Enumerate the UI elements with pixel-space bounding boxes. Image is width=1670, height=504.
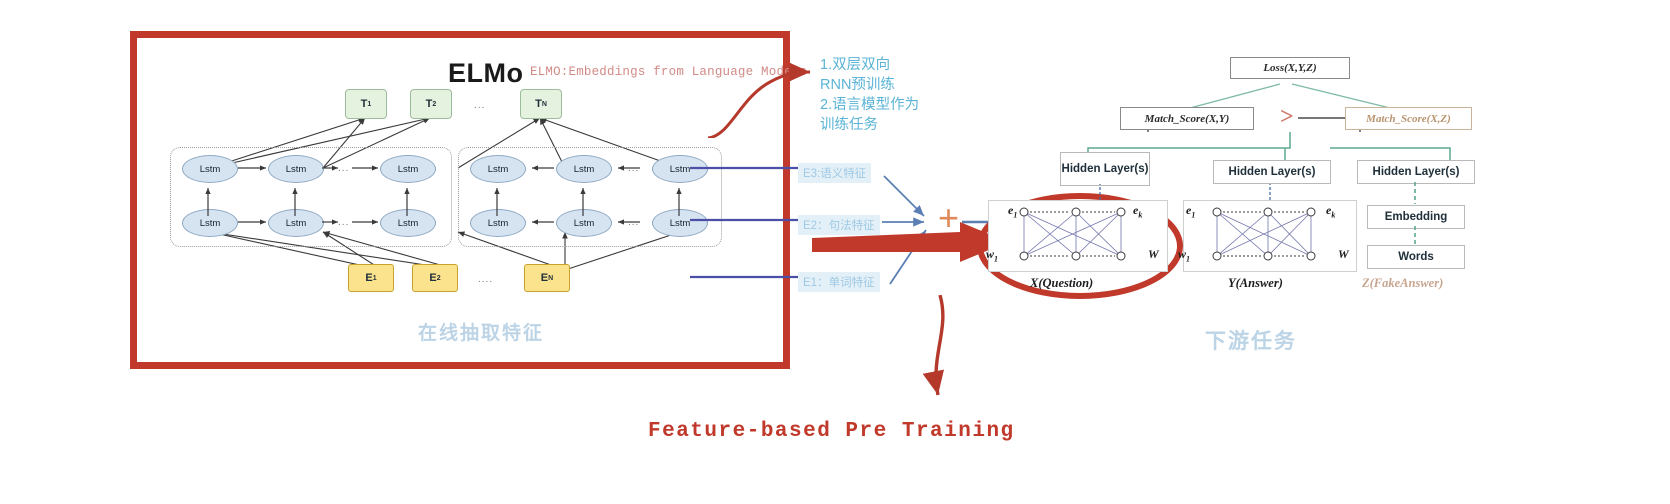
lstm-ellipsis: ...: [338, 217, 349, 228]
e2-sub: 2: [437, 275, 441, 282]
loss-label: Loss(X,Y,Z): [1263, 62, 1316, 74]
x-e1-sub: 1: [1013, 210, 1017, 219]
tn-sub: N: [542, 101, 547, 108]
network-label-x: X(Question): [1030, 276, 1093, 291]
y-ek-sub: k: [1331, 210, 1335, 219]
x-node-w-label: W: [1148, 247, 1159, 262]
network-label-y: Y(Answer): [1228, 276, 1283, 291]
feature-label-e3: E3:语义特征: [798, 163, 871, 183]
annotation-line-4: 训练任务: [820, 115, 930, 135]
e1-sub: 1: [373, 275, 377, 282]
comparator-symbol: >: [1280, 104, 1294, 131]
t-ellipsis: ...: [474, 100, 485, 111]
lstm-ellipsis: ...: [628, 217, 639, 228]
y-e1-sub: 1: [1191, 210, 1195, 219]
y-w1-base: w: [1178, 247, 1186, 261]
annotation-line-3: 2.语言模型作为: [820, 95, 930, 115]
tn-label: T: [535, 98, 542, 110]
x-node-e1-label: e1: [1008, 203, 1017, 219]
lstm-cell: Lstm: [182, 155, 238, 183]
loss-box: Loss(X,Y,Z): [1230, 57, 1350, 79]
embedding-box-e1: E1: [348, 264, 394, 292]
output-box-tn: TN: [520, 89, 562, 119]
red-curve-arrow-bottom: [900, 295, 970, 420]
x-w1-base: w: [986, 247, 994, 261]
x-node-ek-label: ek: [1133, 203, 1142, 219]
match-score-xz-label: Match_Score(X,Z): [1366, 113, 1451, 125]
t1-label: T: [361, 98, 368, 110]
lstm-cell: Lstm: [182, 209, 238, 237]
hidden-layers-box-y: Hidden Layer(s): [1213, 160, 1331, 184]
embedding-box-e2: E2: [412, 264, 458, 292]
lstm-ellipsis: ...: [338, 163, 349, 174]
t1-sub: 1: [367, 101, 371, 108]
hidden-layers-label-z: Hidden Layer(s): [1373, 166, 1460, 179]
x-ek-sub: k: [1138, 210, 1142, 219]
lstm-cell: Lstm: [556, 209, 612, 237]
y-node-w-label: W: [1338, 247, 1349, 262]
hidden-layers-label-x: Hidden Layer(s): [1062, 163, 1149, 176]
en-label: E: [541, 272, 548, 284]
words-label: Words: [1398, 251, 1434, 264]
online-extract-caption: 在线抽取特征: [418, 318, 544, 345]
lstm-cell: Lstm: [556, 155, 612, 183]
output-box-t1: T1: [345, 89, 387, 119]
feature-label-e2: E2：句法特征: [798, 215, 880, 235]
embedding-label: Embedding: [1385, 211, 1448, 224]
output-box-t2: T2: [410, 89, 452, 119]
match-score-xy-label: Match_Score(X,Y): [1145, 113, 1230, 125]
elmo-subtitle: ELMO:Embeddings from Language Models: [530, 65, 807, 79]
hidden-layers-box-x: Hidden Layer(s): [1060, 152, 1150, 186]
annotation-line-1: 1.双层双向: [820, 55, 930, 75]
e-ellipsis: ....: [478, 274, 493, 285]
bottom-caption: Feature-based Pre Training: [648, 420, 1015, 443]
lstm-ellipsis: ...: [628, 163, 639, 174]
elmo-annotation-note: 1.双层双向 RNN预训练 2.语言模型作为 训练任务: [820, 55, 930, 135]
lstm-cell: Lstm: [470, 209, 526, 237]
e1-label: E: [365, 272, 372, 284]
network-label-z: Z(FakeAnswer): [1362, 276, 1443, 291]
e2-label: E: [429, 272, 436, 284]
t2-label: T: [426, 98, 433, 110]
hidden-layers-label-y: Hidden Layer(s): [1229, 166, 1316, 179]
y-node-ek-label: ek: [1326, 203, 1335, 219]
y-node-w1-label: w1: [1178, 247, 1190, 263]
y-node-e1-label: e1: [1186, 203, 1195, 219]
elmo-title: ELMo: [448, 58, 524, 89]
lstm-cell: Lstm: [380, 209, 436, 237]
x-w1-sub: 1: [994, 254, 998, 263]
downstream-task-caption: 下游任务: [1205, 325, 1297, 355]
en-sub: N: [548, 275, 553, 282]
lstm-cell: Lstm: [380, 155, 436, 183]
match-score-xy-box: Match_Score(X,Y): [1120, 107, 1254, 130]
y-w1-sub: 1: [1186, 254, 1190, 263]
lstm-cell: Lstm: [652, 155, 708, 183]
t2-sub: 2: [432, 101, 436, 108]
hidden-layers-box-z: Hidden Layer(s): [1357, 160, 1475, 184]
match-score-xz-box: Match_Score(X,Z): [1345, 107, 1472, 130]
figure-root: ELMo ELMO:Embeddings from Language Model…: [0, 0, 1670, 504]
embedding-box-z: Embedding: [1367, 205, 1465, 229]
lstm-cell: Lstm: [268, 155, 324, 183]
lstm-cell: Lstm: [652, 209, 708, 237]
annotation-line-2: RNN预训练: [820, 75, 930, 95]
x-node-w1-label: w1: [986, 247, 998, 263]
feature-label-e1: E1：单词特征: [798, 272, 880, 292]
lstm-cell: Lstm: [268, 209, 324, 237]
lstm-cell: Lstm: [470, 155, 526, 183]
plus-sign: +: [938, 200, 959, 236]
words-box-z: Words: [1367, 245, 1465, 269]
embedding-box-en: EN: [524, 264, 570, 292]
